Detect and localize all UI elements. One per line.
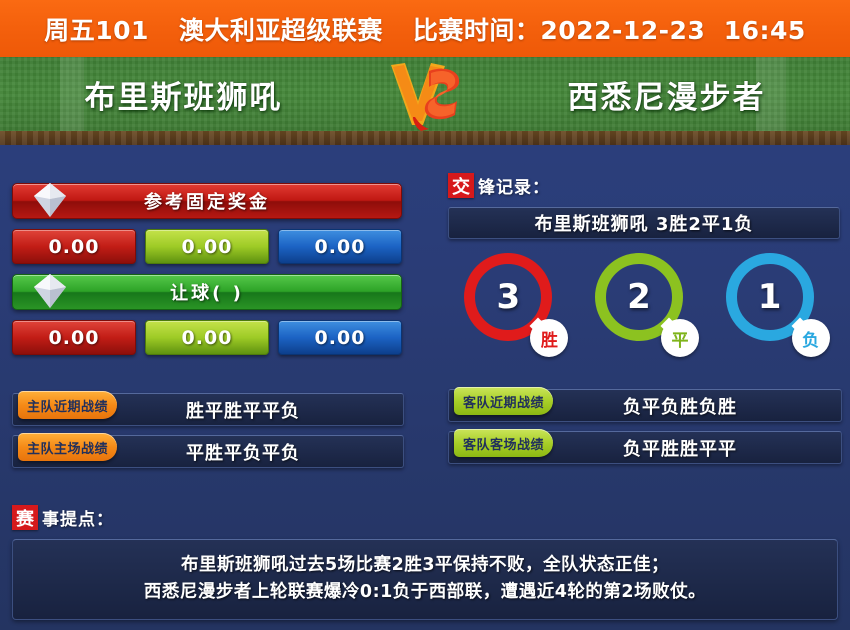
match-preview-screen: 周五101 澳大利亚超级联赛 比赛时间：2022-12-23 16:45 布里斯…	[0, 0, 850, 630]
away-venue-form-value: 负平胜胜平平	[553, 435, 737, 461]
home-venue-form-row: 平胜平负平负 主队主场战绩	[12, 435, 402, 466]
h2h-title: 交 锋记录：	[448, 173, 840, 198]
vs-icon	[377, 57, 473, 131]
h2h-draw-ring: 2 平	[595, 253, 693, 351]
fixed-odd-draw-button[interactable]: 0.00	[145, 229, 269, 264]
handicap-title: 让球( )	[170, 279, 244, 305]
tips-title: 赛 事提点：	[12, 505, 838, 530]
loss-count: 1	[758, 277, 782, 317]
home-team-name: 布里斯班狮吼	[0, 72, 377, 117]
home-recent-form-tab: 主队近期战绩	[18, 391, 117, 419]
handicap-odd-draw-button[interactable]: 0.00	[145, 320, 269, 355]
handicap-title-bar: 让球( )	[12, 274, 402, 310]
fixed-odds-title: 参考固定奖金	[144, 188, 270, 214]
h2h-rings: 3 胜 2 平 1 负	[448, 253, 840, 357]
dirt-strip	[0, 131, 850, 145]
h2h-win-ring: 3 胜	[464, 253, 562, 351]
header-bar: 周五101 澳大利亚超级联赛 比赛时间：2022-12-23 16:45	[0, 0, 850, 57]
h2h-summary-bar: 布里斯班狮吼 3胜2平1负	[448, 207, 840, 239]
home-venue-form-value: 平胜平负平负	[116, 439, 300, 465]
content-area: 参考固定奖金 0.00 0.00 0.00 让球( ) 0.00	[0, 145, 850, 630]
tips-line-2: 西悉尼漫步者上轮联赛爆冷0:1负于西部联，遭遇近4轮的第2场败仗。	[23, 579, 827, 606]
home-venue-form-tab: 主队主场战绩	[18, 433, 117, 461]
draw-count: 2	[627, 277, 651, 317]
handicap-odds-row: 0.00 0.00 0.00	[12, 320, 402, 355]
match-tips-section: 赛 事提点： 布里斯班狮吼过去5场比赛2胜3平保持不败，全队状态正佳； 西悉尼漫…	[12, 505, 838, 620]
h2h-loss-ring: 1 负	[726, 253, 824, 351]
fixed-odd-home-button[interactable]: 0.00	[12, 229, 136, 264]
teams-row: 布里斯班狮吼 西悉尼漫步者	[0, 57, 850, 131]
h2h-title-rest: 锋记录：	[478, 173, 550, 198]
win-label-bubble: 胜	[530, 319, 568, 357]
diamond-gem-icon	[29, 179, 71, 221]
league-label: 澳大利亚超级联赛	[179, 11, 383, 47]
fixed-odds-title-bar: 参考固定奖金	[12, 183, 402, 219]
tips-title-rest: 事提点：	[42, 505, 114, 530]
away-venue-form-tab: 客队客场战绩	[454, 429, 553, 457]
away-team-name: 西悉尼漫步者	[473, 72, 850, 117]
fixed-odd-away-button[interactable]: 0.00	[278, 229, 402, 264]
home-recent-form-value: 胜平胜平平负	[116, 397, 300, 423]
away-recent-form-tab: 客队近期战绩	[454, 387, 553, 415]
fixed-odds-row: 0.00 0.00 0.00	[12, 229, 402, 264]
tips-line-1: 布里斯班狮吼过去5场比赛2胜3平保持不败，全队状态正佳；	[23, 552, 827, 579]
away-recent-form-row: 负平负胜负胜 客队近期战绩	[448, 389, 840, 420]
pitch-banner: 布里斯班狮吼 西悉尼漫步者	[0, 57, 850, 145]
away-venue-form-row: 负平胜胜平平 客队客场战绩	[448, 431, 840, 462]
handicap-odd-home-button[interactable]: 0.00	[12, 320, 136, 355]
tips-box: 布里斯班狮吼过去5场比赛2胜3平保持不败，全队状态正佳； 西悉尼漫步者上轮联赛爆…	[12, 539, 838, 620]
header-content: 周五101 澳大利亚超级联赛 比赛时间：2022-12-23 16:45	[44, 11, 806, 47]
diamond-gem-icon	[29, 270, 71, 312]
handicap-odd-away-button[interactable]: 0.00	[278, 320, 402, 355]
match-time-label: 比赛时间：2022-12-23 16:45	[413, 11, 806, 47]
away-recent-form-value: 负平负胜负胜	[553, 393, 737, 419]
h2h-summary-text: 布里斯班狮吼 3胜2平1负	[535, 210, 754, 236]
win-count: 3	[496, 277, 520, 317]
home-recent-form-row: 胜平胜平平负 主队近期战绩	[12, 393, 402, 424]
loss-label-bubble: 负	[792, 319, 830, 357]
round-label: 周五101	[44, 11, 149, 47]
draw-label-bubble: 平	[661, 319, 699, 357]
h2h-title-badge: 交	[448, 173, 474, 198]
tips-title-badge: 赛	[12, 505, 38, 530]
odds-panel: 参考固定奖金 0.00 0.00 0.00 让球( ) 0.00	[12, 183, 402, 477]
h2h-panel: 交 锋记录： 布里斯班狮吼 3胜2平1负 3 胜 2 平	[448, 173, 840, 473]
